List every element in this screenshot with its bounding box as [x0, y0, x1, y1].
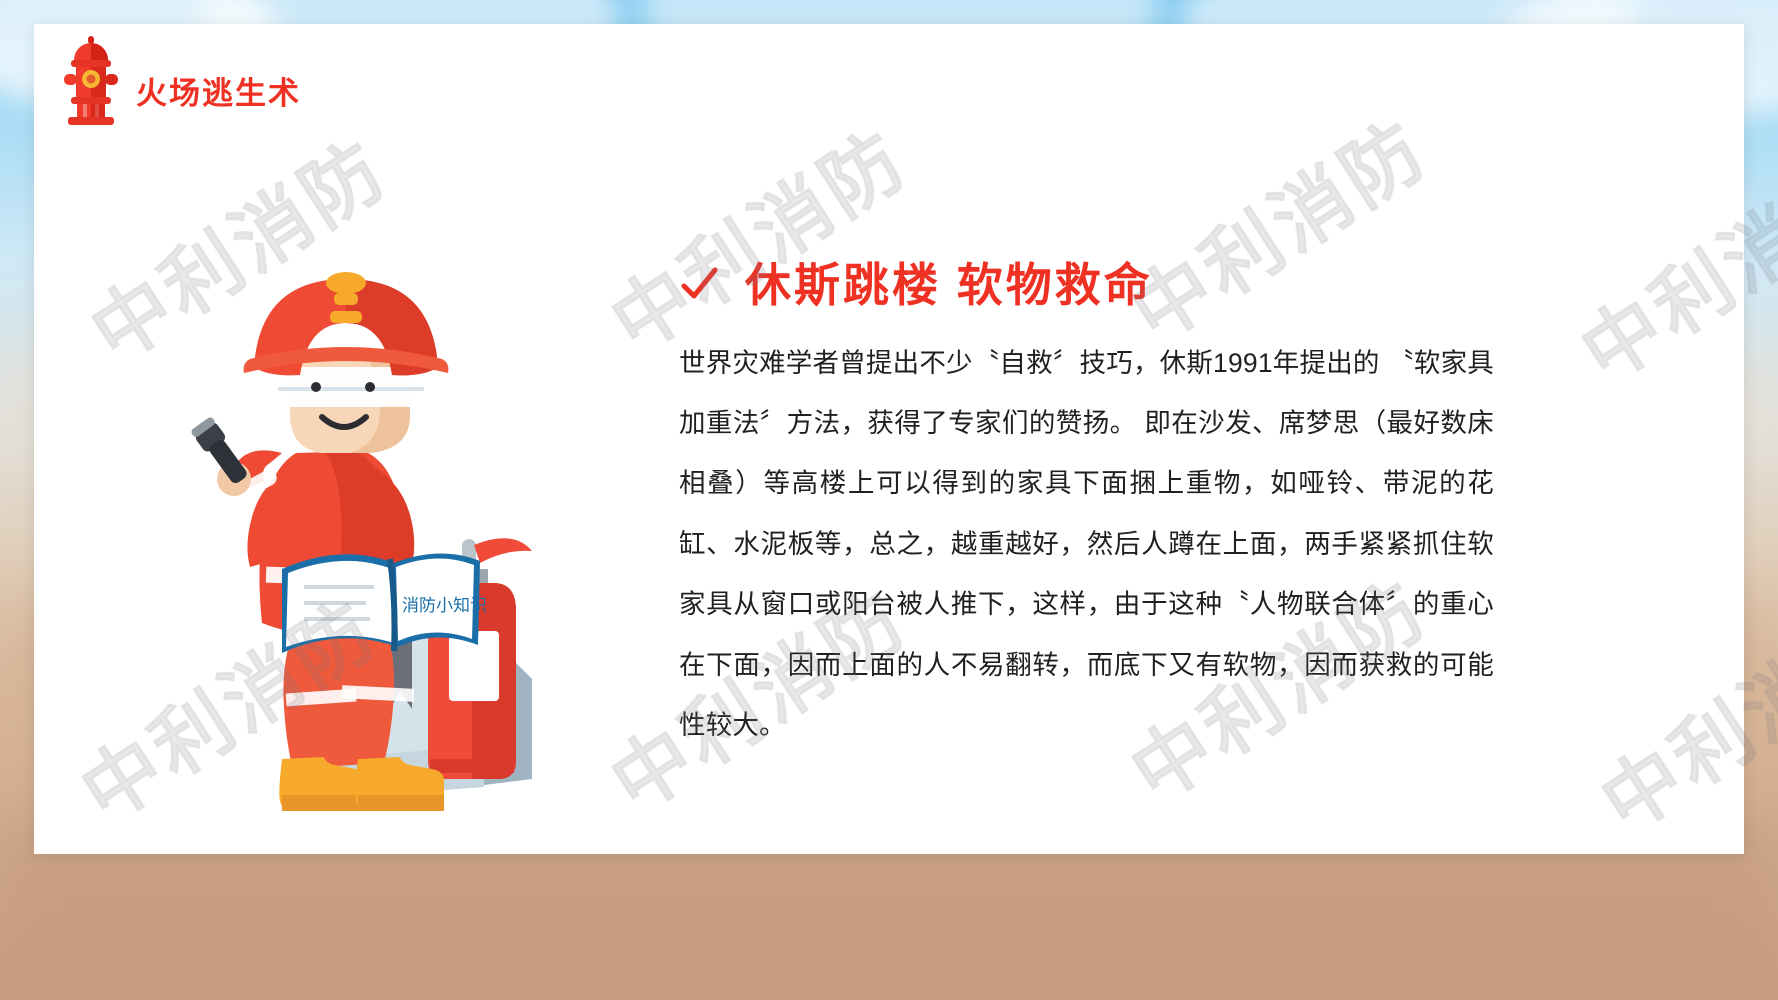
fire-hydrant-icon [60, 34, 122, 126]
page-title: 火场逃生术 [136, 78, 301, 109]
presentation-slide: 火场逃生术 [0, 0, 1778, 1000]
book-label: 消防小知识 [402, 596, 487, 615]
open-book-shape: 消防小知识 [282, 553, 487, 653]
body-paragraph: 世界灾难学者曾提出不少〝自救〞技巧，休斯1991年提出的 〝软家具加重法〞方法，… [679, 333, 1494, 756]
content-panel: 休斯跳楼 软物救命 世界灾难学者曾提出不少〝自救〞技巧，休斯1991年提出的 〝… [679, 260, 1494, 755]
section-title-row: 休斯跳楼 软物救命 [679, 260, 1494, 311]
section-title: 休斯跳楼 软物救命 [745, 260, 1153, 311]
slide-card: 火场逃生术 [34, 24, 1744, 854]
firefighter-head-shape [244, 272, 449, 453]
check-mark-icon [679, 265, 719, 305]
firefighter-reading-book-illustration: 消防小知识 [154, 239, 654, 824]
slide-header: 火场逃生术 [60, 34, 301, 126]
